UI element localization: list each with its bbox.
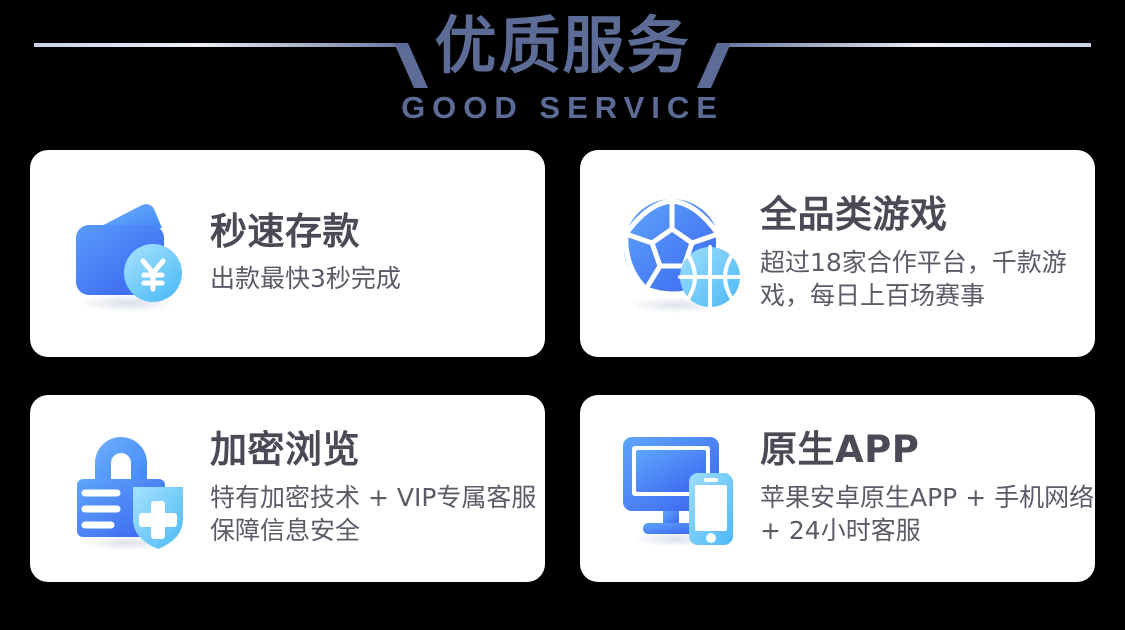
- card-title: 原生APP: [760, 429, 1095, 472]
- service-card-native-app[interactable]: 原生APP 苹果安卓原生APP + 手机网络 + 24小时客服: [580, 395, 1095, 582]
- card-description: 超过18家合作平台，千款游戏，每日上百场赛事: [760, 246, 1095, 314]
- monitor-phone-icon: [614, 423, 746, 555]
- service-card-grid: 秒速存款 出款最快3秒完成: [30, 150, 1095, 582]
- wallet-yen-icon: [64, 188, 196, 320]
- lock-shield-icon: [64, 423, 196, 555]
- page-subtitle: GOOD SERVICE: [401, 90, 724, 126]
- card-text-block: 加密浏览 特有加密技术 + VIP专属客服保障信息安全: [210, 429, 545, 548]
- card-text-block: 秒速存款 出款最快3秒完成: [210, 211, 401, 296]
- page-header: 优质服务 GOOD SERVICE: [0, 0, 1125, 140]
- card-title: 加密浏览: [210, 429, 545, 472]
- decorative-line-right-icon: [691, 0, 1091, 92]
- card-description: 特有加密技术 + VIP专属客服保障信息安全: [210, 481, 545, 549]
- card-description: 苹果安卓原生APP + 手机网络 + 24小时客服: [760, 481, 1095, 549]
- card-description: 出款最快3秒完成: [210, 262, 401, 296]
- card-text-block: 全品类游戏 超过18家合作平台，千款游戏，每日上百场赛事: [760, 194, 1095, 313]
- card-text-block: 原生APP 苹果安卓原生APP + 手机网络 + 24小时客服: [760, 429, 1095, 548]
- service-card-encryption[interactable]: 加密浏览 特有加密技术 + VIP专属客服保障信息安全: [30, 395, 545, 582]
- card-title: 全品类游戏: [760, 194, 1095, 237]
- decorative-line-left-icon: [34, 0, 434, 92]
- title-row: 优质服务: [0, 0, 1125, 92]
- page-title: 优质服务: [434, 0, 690, 92]
- card-title: 秒速存款: [210, 211, 401, 254]
- service-card-games[interactable]: 全品类游戏 超过18家合作平台，千款游戏，每日上百场赛事: [580, 150, 1095, 357]
- soccer-basketball-icon: [614, 188, 746, 320]
- service-card-deposit[interactable]: 秒速存款 出款最快3秒完成: [30, 150, 545, 357]
